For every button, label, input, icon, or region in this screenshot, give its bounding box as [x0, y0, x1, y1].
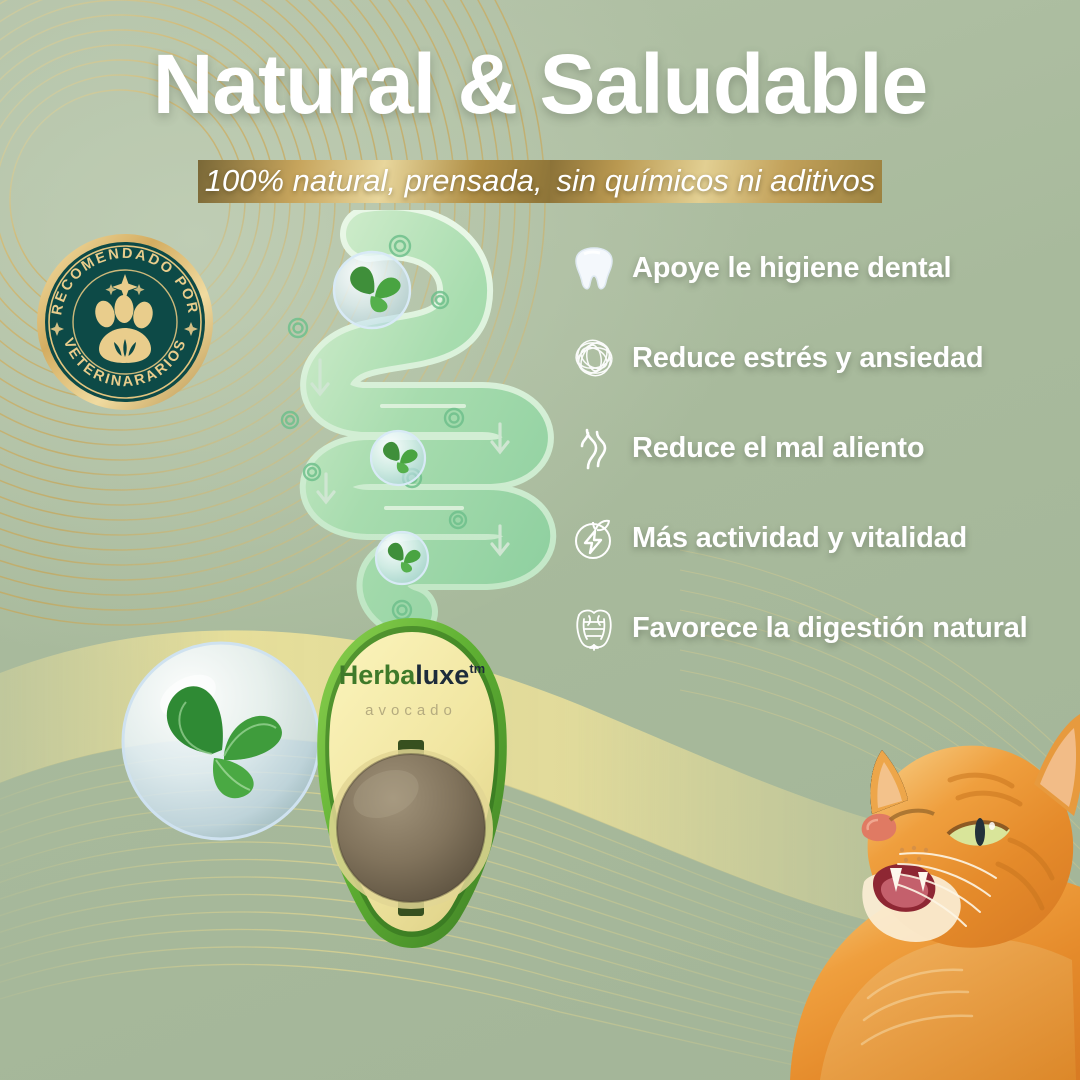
subtitle-segment-1: 100% natural, prensada, — [198, 160, 550, 203]
tooth-icon — [568, 242, 620, 294]
benefit-item-breath: Reduce el mal aliento — [568, 416, 1080, 480]
poster-canvas: Natural & Saludable 100% natural, prensa… — [0, 0, 1080, 1080]
page-title: Natural & Saludable — [0, 42, 1080, 126]
digestive-tract-illustration — [250, 210, 610, 640]
brand-part-2: luxe — [415, 660, 469, 690]
breath-icon — [568, 422, 620, 474]
subtitle-segment-2: sin químicos ni aditivos — [550, 160, 883, 203]
benefit-label: Reduce estrés y ansiedad — [632, 342, 983, 375]
vet-recommended-badge: RECOMENDADO POR VETERINARARIOS — [35, 232, 215, 412]
benefit-item-energy: Más actividad y vitalidad — [568, 506, 1080, 570]
benefit-label: Apoye le higiene dental — [632, 252, 951, 285]
benefit-item-stress: Reduce estrés y ansiedad — [568, 326, 1080, 390]
product-variant-name: avocado — [365, 702, 457, 719]
orange-tabby-cat-photo — [772, 668, 1080, 1080]
benefit-label: Más actividad y vitalidad — [632, 522, 967, 555]
brand-part-1: Herba — [339, 660, 417, 690]
benefit-label: Favorece la digestión natural — [632, 612, 1028, 645]
brand-trademark: tm — [469, 661, 485, 676]
benefits-list: Apoye le higiene dental Reduce estrés — [568, 236, 1080, 686]
intestine-icon — [568, 602, 620, 654]
benefit-label: Reduce el mal aliento — [632, 432, 924, 465]
avocado-product[interactable]: Herbaluxetm avocado — [278, 612, 546, 980]
energy-bolt-icon — [568, 512, 620, 564]
benefit-item-dental: Apoye le higiene dental — [568, 236, 1080, 300]
benefit-item-digestion: Favorece la digestión natural — [568, 596, 1080, 660]
tangle-icon — [568, 332, 620, 384]
product-brand-name: Herbaluxetm — [339, 660, 485, 690]
subtitle: 100% natural, prensada, sin químicos ni … — [0, 160, 1080, 203]
